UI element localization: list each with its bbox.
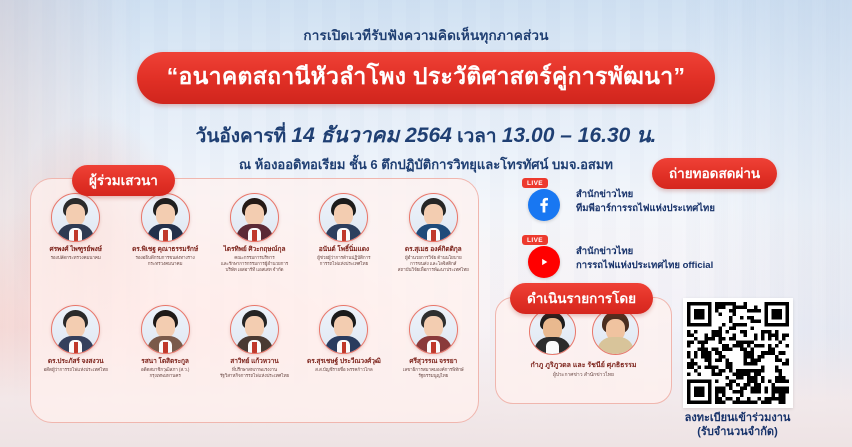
- speaker-role: เลขาธิการสมาคมองค์การพิทักษ์ รัฐธรรมนูญไ…: [391, 367, 475, 379]
- facebook-channel-text: สำนักข่าวไทย ทีมพีอาร์การรถไฟแห่งประเทศไ…: [576, 188, 715, 216]
- speaker-name: สาวิทย์ แก้วหวาน: [212, 358, 296, 366]
- speaker-name: ไตรทิพย์ ศิวะกฤษณ์กุล: [212, 246, 296, 254]
- page-title: “อนาคตสถานีหัวลำโพง ประวัติศาสตร์คู่การพ…: [137, 52, 716, 104]
- speaker-card: ดร.สุรเชษฐ์ ประวีณวงศ์วุฒิส.ส.บัญชีรายชื…: [302, 305, 386, 379]
- youtube-icon[interactable]: [528, 246, 560, 278]
- avatar: [141, 305, 190, 354]
- panel-heading-pill: ผู้ร่วมเสวนา: [72, 165, 175, 196]
- avatar: [141, 193, 190, 242]
- speaker-name: อนันต์ โพธิ์นิ่มแดง: [302, 246, 386, 254]
- speaker-row-1: ศรพงศ์ ไพฑูรย์พงษ์รองปลัดกระทรวงคมนาคมดร…: [31, 193, 478, 273]
- avatar: [319, 193, 368, 242]
- avatar: [409, 305, 458, 354]
- speaker-name: ดร.สุเมธ องค์กิตติกุล: [391, 246, 475, 254]
- moderator-avatars: [496, 308, 671, 355]
- avatar: [230, 305, 279, 354]
- speaker-name: ดร.ประภัสร์ จงสงวน: [34, 358, 118, 366]
- moderator-role: ผู้ประกาศข่าว สำนักข่าวไทย: [496, 371, 671, 379]
- speaker-name: ศรพงศ์ ไพฑูรย์พงษ์: [34, 246, 118, 254]
- header-kicker: การเปิดเวทีรับฟังความคิดเห็นทุกภาคส่วน: [0, 24, 852, 46]
- speaker-card: สาวิทย์ แก้วหวานที่ปรึกษาสหภาพแรงงาน รัฐ…: [212, 305, 296, 379]
- speaker-card: รสนา โตสิตระกูลอดีตสมาชิกวุฒิสภา (ส.ว.) …: [123, 305, 207, 379]
- speaker-card: ไตรทิพย์ ศิวะกฤษณ์กุลคณะกรรมการบริหาร แล…: [212, 193, 296, 273]
- avatar: [409, 193, 458, 242]
- registration-line-2: (รับจำนวนจำกัด): [625, 426, 850, 440]
- speaker-role: ที่ปรึกษาสหภาพแรงงาน รัฐวิสาหกิจการรถไฟแ…: [212, 367, 296, 379]
- registration-text: ลงทะเบียนเข้าร่วมงาน (รับจำนวนจำกัด): [625, 412, 850, 440]
- live-badge-youtube: LIVE: [522, 235, 548, 245]
- moderators-heading-label: ดำเนินรายการโดย: [510, 283, 653, 314]
- avatar: [319, 305, 368, 354]
- event-time: 13.00 – 16.30 น.: [502, 124, 656, 147]
- speaker-role: ส.ส.บัญชีรายชื่อ พรรคก้าวไกล: [302, 367, 386, 373]
- speaker-name: ศรีสุวรรณ จรรยา: [391, 358, 475, 366]
- moderators-heading-pill: ดำเนินรายการโดย: [510, 283, 653, 314]
- event-datetime: วันอังคารที่ 14 ธันวาคม 2564 เวลา 13.00 …: [0, 119, 852, 152]
- panel-heading-label: ผู้ร่วมเสวนา: [72, 165, 175, 196]
- registration-line-1: ลงทะเบียนเข้าร่วมงาน: [625, 412, 850, 426]
- speaker-card: อนันต์ โพธิ์นิ่มแดงผู้ช่วยผู้ว่าการด้านป…: [302, 193, 386, 273]
- youtube-channel-text: สำนักข่าวไทย การรถไฟแห่งประเทศไทย offici…: [576, 245, 713, 273]
- facebook-icon-wrap: LIVE: [520, 180, 566, 224]
- speaker-name: รสนา โตสิตระกูล: [123, 358, 207, 366]
- speaker-role: ผู้อำนวยการวิจัย ด้านนโยบาย การขนส่ง และ…: [391, 255, 475, 273]
- speaker-role: ผู้ช่วยผู้ว่าการด้านปฏิบัติการ การรถไฟแห…: [302, 255, 386, 267]
- youtube-line-1: สำนักข่าวไทย: [576, 245, 713, 259]
- date-prefix: วันอังคารที่: [196, 126, 286, 147]
- facebook-icon[interactable]: [528, 189, 560, 221]
- moderator-names: กำภู ภูริภูวดล และ รัชนีย์ ศุภธิธรรม: [496, 360, 671, 371]
- speaker-card: ศรพงศ์ ไพฑูรย์พงษ์รองปลัดกระทรวงคมนาคม: [34, 193, 118, 273]
- youtube-line-2: การรถไฟแห่งประเทศไทย official: [576, 259, 713, 273]
- facebook-line-1: สำนักข่าวไทย: [576, 188, 715, 202]
- speaker-role: คณะกรรมการบริหาร และรักษาการกรรมการผู้อำ…: [212, 255, 296, 273]
- event-poster: การเปิดเวทีรับฟังความคิดเห็นทุกภาคส่วน “…: [0, 0, 852, 447]
- facebook-line-2: ทีมพีอาร์การรถไฟแห่งประเทศไทย: [576, 202, 715, 216]
- live-channel-youtube[interactable]: LIVE สำนักข่าวไทย การรถไฟแห่งประเทศไทย o…: [520, 237, 840, 281]
- speaker-row-2: ดร.ประภัสร์ จงสงวนอดีตผู้ว่าการรถไฟแห่งป…: [31, 305, 478, 379]
- avatar: [51, 193, 100, 242]
- speaker-card: ดร.พิเชฐ คุณาธรรมรักษ์รองอธิบดีกรมการขนส…: [123, 193, 207, 273]
- speakers-panel: ศรพงศ์ ไพฑูรย์พงษ์รองปลัดกระทรวงคมนาคมดร…: [30, 178, 479, 423]
- speaker-role: อดีตสมาชิกวุฒิสภา (ส.ว.) กรุงเทพมหานคร: [123, 367, 207, 379]
- live-channels: LIVE สำนักข่าวไทย ทีมพีอาร์การรถไฟแห่งปร…: [520, 180, 840, 294]
- speaker-role: อดีตผู้ว่าการรถไฟแห่งประเทศไทย: [34, 367, 118, 373]
- speaker-name: ดร.พิเชฐ คุณาธรรมรักษ์: [123, 246, 207, 254]
- avatar-moderator-female: [592, 308, 639, 355]
- live-badge-facebook: LIVE: [522, 178, 548, 188]
- speaker-card: ศรีสุวรรณ จรรยาเลขาธิการสมาคมองค์การพิทั…: [391, 305, 475, 379]
- avatar: [230, 193, 279, 242]
- speaker-card: ดร.สุเมธ องค์กิตติกุลผู้อำนวยการวิจัย ด้…: [391, 193, 475, 273]
- avatar-moderator-male: [529, 308, 576, 355]
- speaker-name: ดร.สุรเชษฐ์ ประวีณวงศ์วุฒิ: [302, 358, 386, 366]
- qr-code-wrap[interactable]: [683, 298, 793, 408]
- event-date: 14 ธันวาคม 2564: [291, 124, 451, 147]
- speaker-role: รองปลัดกระทรวงคมนาคม: [34, 255, 118, 261]
- poster-header: การเปิดเวทีรับฟังความคิดเห็นทุกภาคส่วน “…: [0, 0, 852, 175]
- youtube-icon-wrap: LIVE: [520, 237, 566, 281]
- avatar: [51, 305, 100, 354]
- time-prefix: เวลา: [457, 126, 496, 147]
- speaker-card: ดร.ประภัสร์ จงสงวนอดีตผู้ว่าการรถไฟแห่งป…: [34, 305, 118, 379]
- registration-qr-code[interactable]: [683, 298, 793, 408]
- speaker-role: รองอธิบดีกรมการขนส่งทางราง กระทรวงคมนาคม: [123, 255, 207, 267]
- live-channel-facebook[interactable]: LIVE สำนักข่าวไทย ทีมพีอาร์การรถไฟแห่งปร…: [520, 180, 840, 224]
